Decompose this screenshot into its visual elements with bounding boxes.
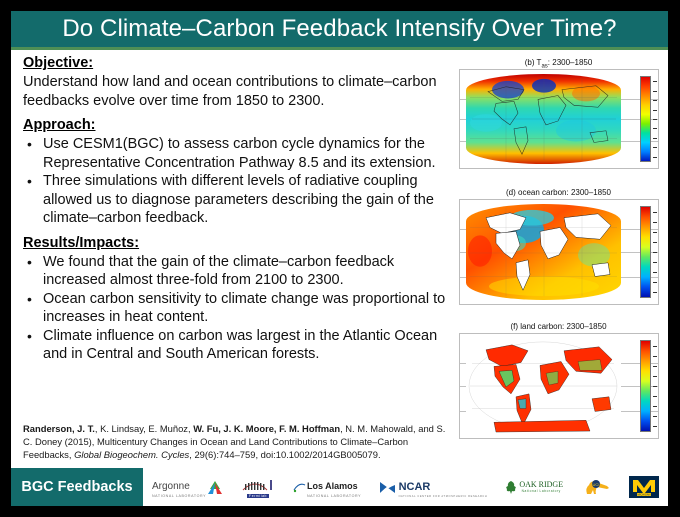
colorbar xyxy=(640,206,651,298)
oak-leaf-icon xyxy=(505,480,518,495)
figure-plot-box xyxy=(459,199,659,305)
map-svg xyxy=(466,338,621,434)
slide: Do Climate–Carbon Feedback Intensify Ove… xyxy=(11,11,668,506)
oak-ridge-logo-subtext: National Laboratory xyxy=(519,488,563,495)
argonne-logo-text: Argonne xyxy=(152,481,190,492)
figure-title-main: (f) land carbon: 2300–1850 xyxy=(510,322,606,331)
bullet-text: Climate influence on carbon was largest … xyxy=(43,328,437,363)
figure-ocean-carbon: (d) ocean carbon: 2300–1850 xyxy=(451,187,666,317)
oak-ridge-logo: OAK RIDGE National Laboratory xyxy=(505,472,563,502)
bullet-text: We found that the gain of the climate–ca… xyxy=(43,254,394,289)
bullet-dot-icon: • xyxy=(27,172,32,191)
los-alamos-mark-icon xyxy=(293,481,306,494)
anteater-mascot-icon: UCI xyxy=(581,477,611,497)
ncar-logo-subtext: NATIONAL CENTER FOR ATMOSPHERIC RESEARCH xyxy=(399,495,488,498)
ncar-mark-icon xyxy=(379,480,397,495)
citation: Randerson, J. T., K. Lindsay, E. Muñoz, … xyxy=(23,422,451,462)
bullet-text: Ocean carbon sensitivity to climate chan… xyxy=(43,291,445,326)
page-title: Do Climate–Carbon Feedback Intensify Ove… xyxy=(11,11,668,47)
los-alamos-logo: Los Alamos NATIONAL LABORATORY xyxy=(293,472,361,502)
list-item: •Three simulations with different levels… xyxy=(23,172,447,228)
program-label: BGC Feedbacks xyxy=(21,479,132,495)
figure-title-main: (b) T xyxy=(525,58,542,67)
title-bar: Do Climate–Carbon Feedback Intensify Ove… xyxy=(11,11,668,50)
bullet-dot-icon: • xyxy=(27,135,32,154)
bullet-text: Three simulations with different levels … xyxy=(43,173,434,226)
fermilab-logo-subtext: Fermilab xyxy=(247,494,269,498)
argonne-logo-subtext: NATIONAL LABORATORY xyxy=(152,494,206,498)
air-temperature-map xyxy=(466,74,621,164)
citation-author-primary: Randerson, J. T. xyxy=(23,423,95,434)
bullet-text: Use CESM1(BGC) to assess carbon cycle dy… xyxy=(43,136,436,171)
bullet-dot-icon: • xyxy=(27,290,32,309)
list-item: •We found that the gain of the climate–c… xyxy=(23,253,447,290)
results-heading: Results/Impacts: xyxy=(23,235,447,252)
ncar-logo-text: NCAR xyxy=(399,481,431,493)
figure-title: (f) land carbon: 2300–1850 xyxy=(451,321,666,333)
michigan-block-m-icon: MICHIGAN xyxy=(629,476,659,498)
los-alamos-logo-subtext: NATIONAL LABORATORY xyxy=(307,494,361,498)
svg-text:UCI: UCI xyxy=(593,482,600,487)
bullet-dot-icon: • xyxy=(27,327,32,346)
list-item: •Climate influence on carbon was largest… xyxy=(23,327,447,364)
citation-tail: , 29(6):744–759, doi:10.1002/2014GB00507… xyxy=(189,449,380,460)
ncar-logo: NCAR NATIONAL CENTER FOR ATMOSPHERIC RES… xyxy=(379,472,487,502)
figure-title-main: (d) ocean carbon: 2300–1850 xyxy=(506,188,611,197)
colorbar-ticks xyxy=(652,76,657,162)
objective-body: Understand how land and ocean contributi… xyxy=(23,73,447,110)
map-area xyxy=(466,74,621,164)
uc-irvine-logo: UCI xyxy=(581,472,611,502)
bullet-dot-icon: • xyxy=(27,253,32,272)
colorbar xyxy=(640,340,651,432)
fermilab-logo: Fermilab xyxy=(241,472,275,502)
content-column: Objective: Understand how land and ocean… xyxy=(23,55,447,460)
land-carbon-map xyxy=(466,338,621,434)
objective-section: Objective: Understand how land and ocean… xyxy=(23,55,447,110)
los-alamos-logo-text: Los Alamos xyxy=(307,481,358,491)
argonne-mark-icon xyxy=(207,480,223,495)
map-area xyxy=(466,204,621,300)
figure-land-carbon: (f) land carbon: 2300–1850 xyxy=(451,321,666,451)
program-badge: BGC Feedbacks xyxy=(11,468,143,506)
map-svg xyxy=(466,204,621,300)
argonne-logo: Argonne NATIONAL LABORATORY xyxy=(152,472,223,502)
fermilab-mark-icon xyxy=(241,477,275,494)
approach-bullet-list: •Use CESM1(BGC) to assess carbon cycle d… xyxy=(23,135,447,228)
figure-title: (b) Tas: 2300–1850 xyxy=(451,57,666,69)
citation-authors-mid: , K. Lindsay, E. Muñoz, xyxy=(95,423,193,434)
title-accent-rule xyxy=(11,47,668,50)
colorbar-ticks xyxy=(652,340,657,432)
map-svg xyxy=(466,74,621,164)
colorbar xyxy=(640,76,651,162)
approach-section: Approach: •Use CESM1(BGC) to assess carb… xyxy=(23,117,447,228)
figure-plot-box xyxy=(459,69,659,169)
approach-heading: Approach: xyxy=(23,117,447,134)
logo-strip: Argonne NATIONAL LABORATORY xyxy=(143,468,668,506)
list-item: •Use CESM1(BGC) to assess carbon cycle d… xyxy=(23,135,447,172)
citation-authors-bold-2: W. Fu, J. K. Moore, F. M. Hoffman xyxy=(193,423,340,434)
results-bullet-list: •We found that the gain of the climate–c… xyxy=(23,253,447,364)
list-item: •Ocean carbon sensitivity to climate cha… xyxy=(23,290,447,327)
colorbar-ticks xyxy=(652,206,657,298)
objective-heading: Objective: xyxy=(23,55,447,72)
figure-column: (b) Tas: 2300–1850 xyxy=(451,57,666,459)
footer-bar: BGC Feedbacks Argonne NATIONAL LABORATOR… xyxy=(11,468,668,506)
figure-title-tail: : 2300–1850 xyxy=(548,58,593,67)
figure-title: (d) ocean carbon: 2300–1850 xyxy=(451,187,666,199)
michigan-logo-subtext: MICHIGAN xyxy=(637,493,650,497)
figure-air-temperature: (b) Tas: 2300–1850 xyxy=(451,57,666,183)
citation-journal: Global Biogeochem. Cycles xyxy=(74,449,189,460)
ocean-carbon-map xyxy=(466,204,621,300)
michigan-logo: MICHIGAN xyxy=(629,472,659,502)
figure-plot-box xyxy=(459,333,659,439)
map-area xyxy=(466,338,621,434)
results-section: Results/Impacts: •We found that the gain… xyxy=(23,235,447,364)
